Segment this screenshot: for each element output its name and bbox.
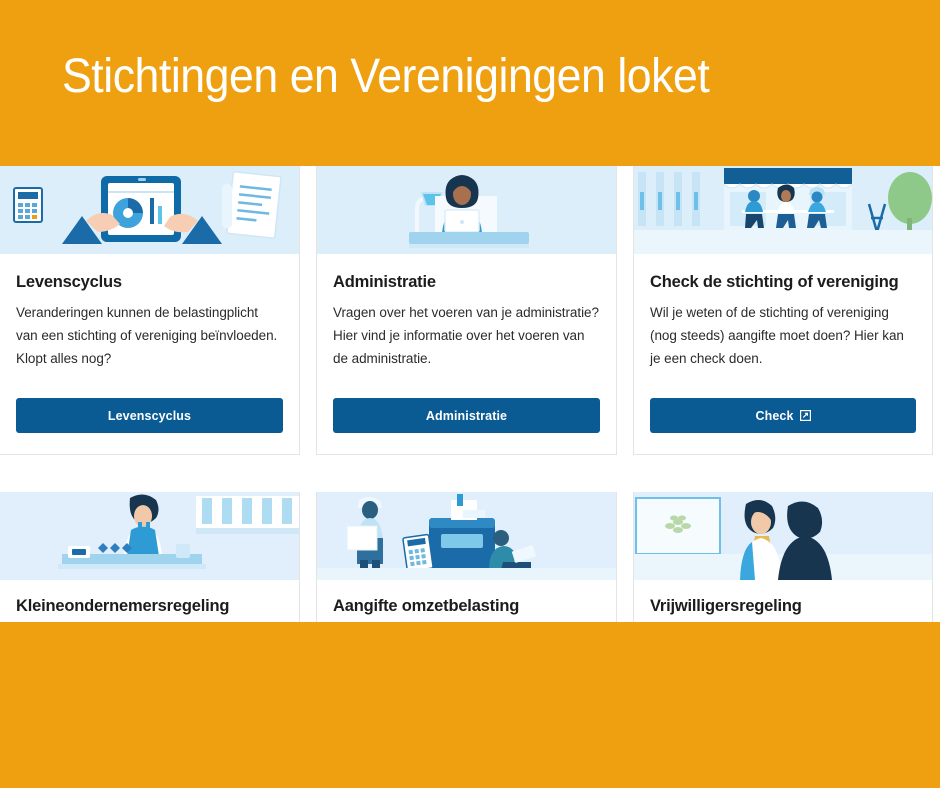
card-body: Vrijwilligersregeling	[634, 580, 932, 616]
card-body: Levenscyclus Veranderingen kunnen de bel…	[0, 254, 299, 370]
person-at-desk-laptop-icon	[317, 166, 616, 254]
card-title: Levenscyclus	[16, 272, 283, 292]
illustration-person-desk	[317, 166, 616, 254]
office-printer-calculator-icon	[317, 492, 616, 580]
card-kleineondernemersregeling[interactable]: Kleineondernemersregeling	[0, 492, 300, 622]
card-vrijwilligersregeling[interactable]: Vrijwilligersregeling	[633, 492, 933, 622]
card-row-primary: Levenscyclus Veranderingen kunnen de bel…	[0, 166, 940, 455]
two-people-talking-icon	[634, 492, 932, 580]
check-button[interactable]: Check	[650, 398, 916, 433]
card-title: Check de stichting of vereniging	[650, 272, 916, 292]
footer-banner	[0, 622, 940, 788]
card-title: Administratie	[333, 272, 600, 292]
page-root: Stichtingen en Verenigingen loket	[0, 0, 940, 788]
card-title: Vrijwilligersregeling	[650, 596, 916, 616]
card-title: Aangifte omzetbelasting	[333, 596, 600, 616]
card-body: Aangifte omzetbelasting	[317, 580, 616, 616]
card-administratie[interactable]: Administratie Vragen over het voeren van…	[316, 166, 617, 455]
tablet-chart-hands-icon	[0, 166, 299, 254]
shopkeeper-counter-icon	[0, 492, 299, 580]
cafe-terrace-people-icon	[634, 166, 932, 254]
button-label: Levenscyclus	[108, 409, 191, 423]
card-body: Kleineondernemersregeling	[0, 580, 299, 616]
levenscyclus-button[interactable]: Levenscyclus	[16, 398, 283, 433]
page-title: Stichtingen en Verenigingen loket	[62, 48, 709, 106]
illustration-cafe-terrace	[634, 166, 932, 254]
illustration-office-printer	[317, 492, 616, 580]
card-body: Check de stichting of vereniging Wil je …	[634, 254, 932, 370]
card-description: Wil je weten of de stichting of verenigi…	[650, 301, 916, 370]
external-link-icon	[800, 410, 811, 421]
illustration-two-people	[634, 492, 932, 580]
card-row-secondary: Kleineondernemersregeling	[0, 492, 940, 622]
card-title: Kleineondernemersregeling	[16, 596, 283, 616]
card-description: Vragen over het voeren van je administra…	[333, 301, 600, 370]
card-aangifte-omzetbelasting[interactable]: Aangifte omzetbelasting	[316, 492, 617, 622]
card-check-stichting[interactable]: Check de stichting of vereniging Wil je …	[633, 166, 933, 455]
button-label: Administratie	[426, 409, 507, 423]
card-body: Administratie Vragen over het voeren van…	[317, 254, 616, 370]
header-banner: Stichtingen en Verenigingen loket	[0, 0, 940, 166]
card-levenscyclus[interactable]: Levenscyclus Veranderingen kunnen de bel…	[0, 166, 300, 455]
illustration-shopkeeper-counter	[0, 492, 299, 580]
illustration-tablet-chart	[0, 166, 299, 254]
button-label: Check	[755, 409, 793, 423]
card-description: Veranderingen kunnen de belastingplicht …	[16, 301, 283, 370]
cards-area: Levenscyclus Veranderingen kunnen de bel…	[0, 166, 940, 622]
administratie-button[interactable]: Administratie	[333, 398, 600, 433]
